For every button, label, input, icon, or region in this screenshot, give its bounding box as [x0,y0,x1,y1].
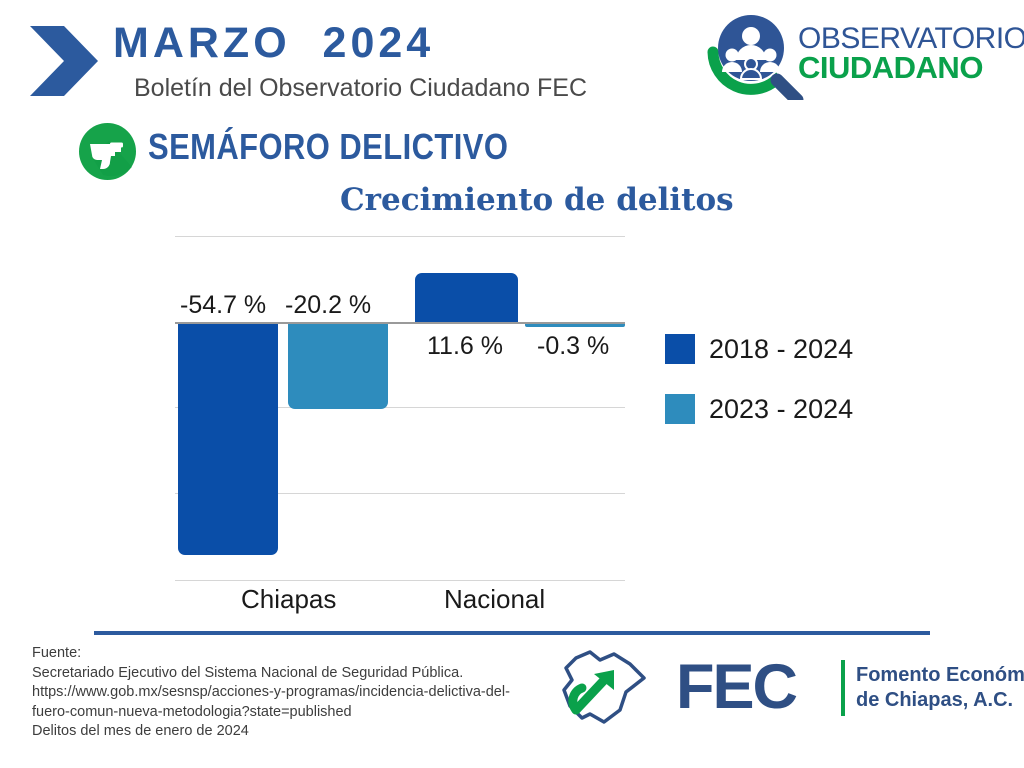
source-line-5: Delitos del mes de enero de 2024 [32,722,542,742]
legend-swatch-2018-2024 [665,334,695,364]
fec-logo: FEC Fomento Económico de Chiapas, A.C. [556,648,996,744]
source-line-3: https://www.gob.mx/sesnsp/acciones-y-pro… [32,683,542,703]
chiapas-map-arrow-icon [556,648,666,734]
semaforo-delictivo-label: SEMÁFORO DELICTIVO [148,129,508,165]
fec-acronym: FEC [676,656,796,719]
source-note: Fuente: Secretariado Ejecutivo del Siste… [32,644,542,742]
source-line-2: Secretariado Ejecutivo del Sistema Nacio… [32,664,542,684]
chart-legend: 2018 - 2024 2023 - 2024 [665,334,925,454]
bar-chiapas-2018-2024 [178,324,278,555]
chevron-right-icon [28,24,100,98]
data-label-nacional-2023-2024: -0.3 % [537,334,609,359]
fec-tagline-line2: de Chiapas, A.C. [856,690,1013,710]
source-line-4: fuero-comun-nueva-metodologia?state=publ… [32,703,542,723]
category-label-chiapas: Chiapas [241,586,336,612]
fec-logo-divider [841,660,845,716]
fec-tagline-line1: Fomento Económico [856,665,1024,685]
chart-title: Crecimiento de delitos [340,185,734,216]
footer-divider [94,631,930,635]
observatorio-logo-word2: CIUDADANO [798,52,983,83]
bar-nacional-2023-2024 [525,324,625,327]
legend-label-2018-2024: 2018 - 2024 [709,333,853,365]
gridline-top [175,236,625,237]
page-title: MARZO 2024 [113,22,434,65]
data-label-chiapas-2023-2024: -20.2 % [285,293,371,318]
category-label-nacional: Nacional [444,586,545,612]
bar-nacional-2018-2024 [415,273,518,322]
legend-swatch-2023-2024 [665,394,695,424]
observatorio-ciudadano-logo: OBSERVATORIO CIUDADANO [705,8,1005,100]
page-subtitle: Boletín del Observatorio Ciudadano FEC [134,76,587,101]
source-line-1: Fuente: [32,644,542,664]
legend-label-2023-2024: 2023 - 2024 [709,393,853,425]
gridline-bottom [175,580,625,581]
infographic-canvas: MARZO 2024 Boletín del Observatorio Ciud… [0,0,1024,768]
data-label-chiapas-2018-2024: -54.7 % [180,293,266,318]
bar-chiapas-2023-2024 [288,324,388,409]
handgun-icon [79,123,136,180]
data-label-nacional-2018-2024: 11.6 % [427,334,503,359]
legend-item-2023-2024: 2023 - 2024 [665,394,925,454]
legend-item-2018-2024: 2018 - 2024 [665,334,925,394]
chart-plot-area: -54.7 % -20.2 % 11.6 % -0.3 % Chiapas Na… [175,236,625,582]
